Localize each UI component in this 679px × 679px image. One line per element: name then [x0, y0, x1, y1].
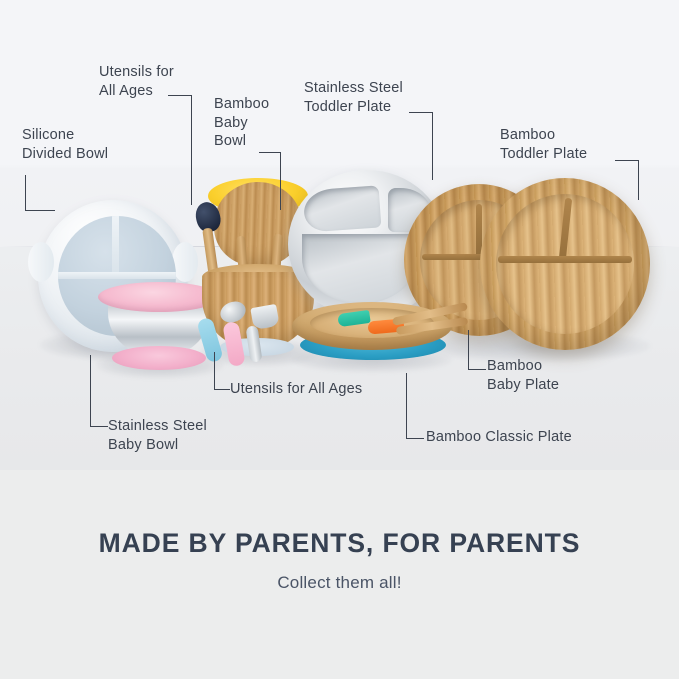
footer-headline: MADE BY PARENTS, FOR PARENTS [0, 528, 679, 559]
leader-line-silicone-divided-bowl [25, 175, 55, 211]
leader-line-bamboo-baby-plate [468, 330, 486, 370]
utensil-fork-stem [246, 325, 263, 362]
product-bamboo-classic-plate [292, 300, 452, 362]
silicone-divider-vertical [112, 216, 119, 276]
product-photo-area: Silicone Divided Bowl Utensils for All A… [0, 0, 679, 470]
callout-label-bamboo-classic-plate: Bamboo Classic Plate [426, 428, 572, 447]
product-bamboo-toddler-plate-front [480, 178, 650, 350]
leader-line-utensils-bottom [214, 352, 230, 390]
callout-label-bamboo-baby-plate: Bamboo Baby Plate [487, 357, 559, 394]
footer-section: MADE BY PARENTS, FOR PARENTS Collect the… [0, 470, 679, 679]
infographic-root: Silicone Divided Bowl Utensils for All A… [0, 0, 679, 679]
silicone-divider-horizontal [58, 272, 176, 279]
leader-line-utensils-top [168, 95, 192, 205]
steel-plate-compartment-top-left [303, 185, 382, 232]
callout-label-stainless-steel-baby-bowl: Stainless Steel Baby Bowl [108, 417, 207, 454]
leader-line-bamboo-toddler-plate [615, 160, 639, 200]
callout-label-bamboo-toddler-plate: Bamboo Toddler Plate [500, 126, 587, 163]
bamboo-divider-horizontal [498, 256, 632, 263]
silicone-bowl-ear-left [28, 242, 54, 282]
callout-label-utensils-top: Utensils for All Ages [99, 63, 174, 100]
bamboo-classic-plate-body [292, 302, 452, 350]
callout-label-utensils-bottom: Utensils for All Ages [230, 380, 362, 399]
leader-line-stainless-steel-baby-bowl [90, 355, 108, 427]
leader-line-bamboo-baby-bowl [259, 152, 281, 210]
leader-line-stainless-steel-toddler-plate [409, 112, 433, 180]
bamboo-front-plate-inner [496, 194, 634, 334]
steel-plate-compartment-main [302, 234, 418, 304]
pink-suction-base [112, 346, 206, 370]
callout-label-bamboo-baby-bowl: Bamboo Baby Bowl [214, 95, 269, 151]
callout-label-stainless-steel-toddler-plate: Stainless Steel Toddler Plate [304, 79, 403, 116]
callout-label-silicone-divided-bowl: Silicone Divided Bowl [22, 126, 108, 163]
footer-subline: Collect them all! [0, 573, 679, 593]
bamboo-divider-vertical [559, 198, 572, 260]
leader-line-bamboo-classic-plate [406, 373, 424, 439]
